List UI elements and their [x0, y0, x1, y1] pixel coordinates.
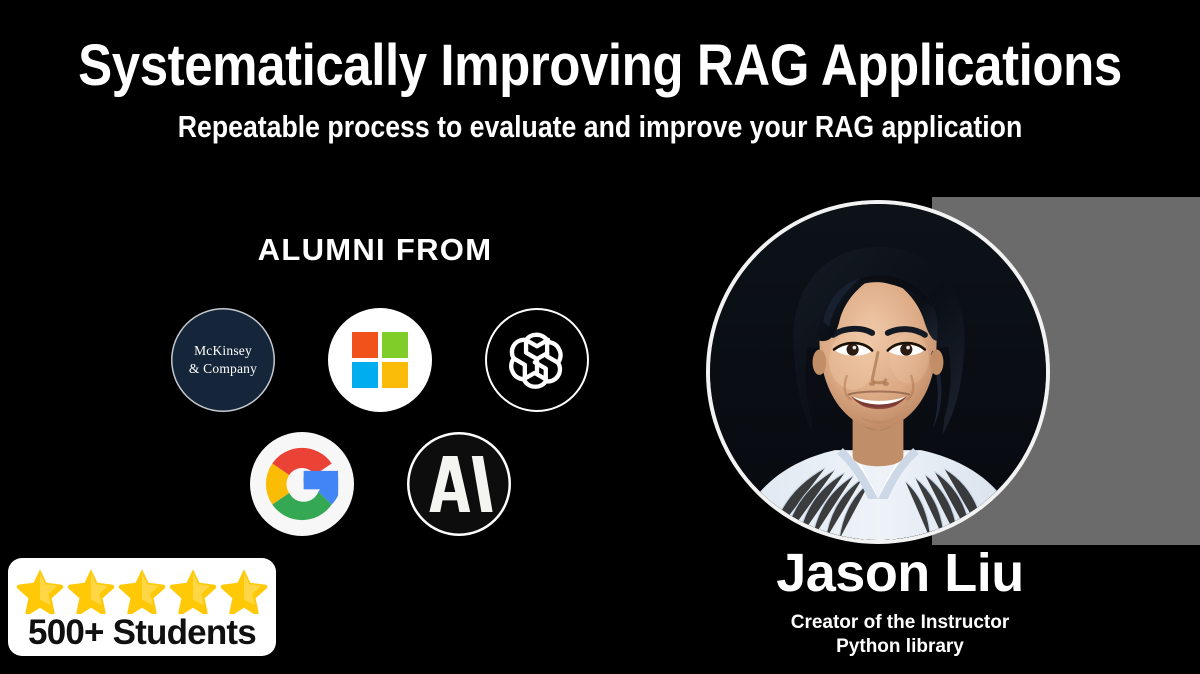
star-icon — [168, 566, 218, 614]
speaker-portrait-image — [710, 204, 1046, 540]
students-badge: 500+ Students — [8, 558, 276, 656]
page-subtitle: Repeatable process to evaluate and impro… — [84, 110, 1116, 144]
page-title: Systematically Improving RAG Application… — [72, 36, 1128, 97]
star-icon — [219, 566, 269, 614]
mckinsey-wordmark: McKinsey & Company — [185, 342, 261, 378]
students-count-label: 500+ Students — [28, 615, 256, 650]
mckinsey-line-1: McKinsey — [189, 342, 257, 360]
star-rating — [15, 566, 269, 614]
speaker-role-line-2: Python library — [690, 635, 1110, 659]
poster-canvas: Systematically Improving RAG Application… — [0, 0, 1200, 674]
speaker-name: Jason Liu — [690, 545, 1110, 602]
star-icon — [66, 566, 116, 614]
google-g-icon — [261, 443, 343, 525]
star-icon — [117, 566, 167, 614]
logo-microsoft — [328, 308, 432, 412]
microsoft-squares-icon — [352, 332, 408, 388]
alumni-section-label: ALUMNI FROM — [160, 232, 590, 268]
microsoft-square-red — [352, 332, 378, 358]
openai-knot-icon — [504, 327, 570, 393]
logo-ai — [407, 432, 511, 536]
mckinsey-line-2: & Company — [189, 360, 257, 378]
star-icon — [15, 566, 65, 614]
speaker-role-line-1: Creator of the Instructor — [690, 611, 1110, 635]
speaker-portrait — [706, 200, 1050, 544]
logo-openai — [485, 308, 589, 412]
microsoft-square-blue — [352, 362, 378, 388]
microsoft-square-green — [382, 332, 408, 358]
ai-monogram-icon — [419, 444, 499, 524]
logo-mckinsey: McKinsey & Company — [171, 308, 275, 412]
microsoft-square-yellow — [382, 362, 408, 388]
alumni-logo-grid: McKinsey & Company — [160, 300, 600, 540]
logo-google — [250, 432, 354, 536]
speaker-role: Creator of the Instructor Python library — [690, 611, 1110, 659]
